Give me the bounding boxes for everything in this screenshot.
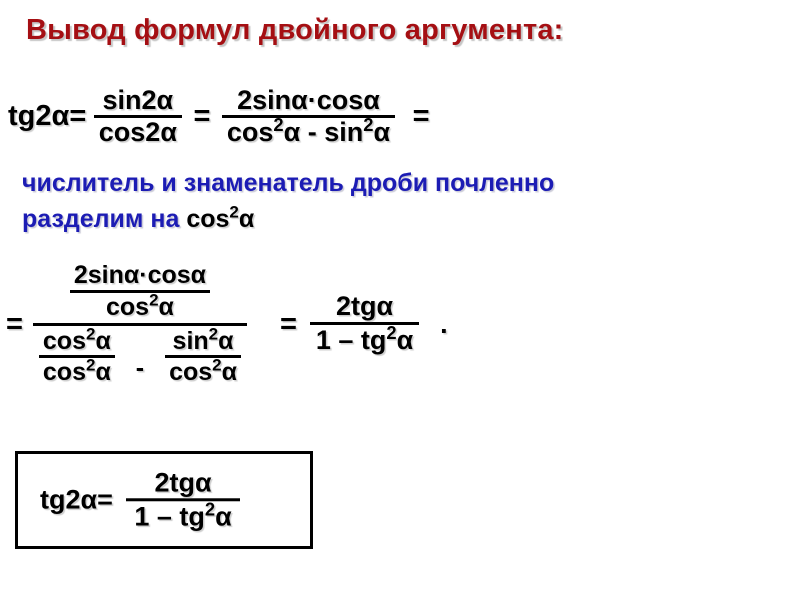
fraction-sin2a-over-cos2a: sin2α cos2α	[94, 86, 182, 147]
note-line-2: разделим на cos2α	[22, 202, 762, 238]
equals-sign-2: =	[403, 102, 434, 131]
inner-fraction-numerator-term: 2sinα·cosα cos2α	[70, 262, 210, 321]
fraction-numerator: sin2α	[94, 86, 182, 118]
equals-sign-1: =	[189, 102, 214, 131]
cos-base: cos	[43, 358, 86, 386]
note-cos-squared-alpha: cos2α	[186, 205, 254, 233]
result-fraction: 2tgα 1 – tg2α	[310, 292, 419, 355]
tg-arg: α	[397, 325, 414, 355]
sin-term-base: sin	[324, 117, 363, 147]
minus-operator: -	[122, 356, 158, 381]
cos-term-exponent: 2	[273, 114, 283, 135]
minus-operator: -	[300, 117, 324, 147]
cos-exponent: 2	[229, 202, 238, 221]
final-tg2alpha-label: tg2α=	[40, 487, 119, 514]
nested-fraction-denominator: cos2α cos2α - sin2α cos2α	[33, 326, 247, 387]
sin-arg: α	[218, 327, 233, 355]
sin-exponent: 2	[209, 324, 218, 343]
inner-numerator: 2sinα·cosα	[70, 262, 210, 293]
tg2alpha-label: tg2α=	[8, 102, 86, 131]
inner-numerator: sin2α	[165, 328, 241, 359]
page-title: Вывод формул двойного аргумента:	[26, 14, 564, 47]
cos-base: cos	[169, 358, 212, 386]
final-fraction: 2tgα 1 – tg2α	[126, 468, 239, 531]
trailing-period: .	[426, 311, 448, 338]
cos-arg: α	[95, 327, 110, 355]
fraction-denominator: cos2α	[94, 118, 182, 147]
equals-sign-mid: =	[254, 310, 303, 339]
note-line-1: числитель и знаменатель дроби почленно	[22, 166, 762, 202]
sin-term-arg: α	[373, 117, 390, 147]
result-numerator: 2tgα	[310, 292, 419, 325]
denominator-prefix: 1 – tg	[316, 325, 387, 355]
cos-term-arg: α	[284, 117, 301, 147]
tg-arg: α	[215, 501, 232, 531]
equals-sign-lead: =	[6, 310, 26, 339]
nested-fraction-numerator: 2sinα·cosα cos2α	[33, 262, 247, 326]
final-formula: tg2α= 2tgα 1 – tg2α	[40, 468, 240, 531]
cos-arg: α	[159, 293, 174, 321]
explanation-note: числитель и знаменатель дроби почленно р…	[22, 166, 762, 237]
cos-exponent: 2	[212, 356, 221, 375]
inner-denominator: cos2α	[39, 358, 115, 386]
inner-fraction-term-1: cos2α cos2α	[39, 328, 115, 387]
cos-base: cos	[106, 293, 149, 321]
cos-arg: α	[239, 205, 254, 233]
inner-denominator: cos2α	[70, 293, 210, 321]
final-denominator: 1 – tg2α	[126, 501, 239, 532]
cos-base: cos	[43, 327, 86, 355]
inner-fraction-term-2: sin2α cos2α	[165, 328, 241, 387]
equation-row-1: tg2α= sin2α cos2α = 2sinα·cosα cos2α - s…	[8, 86, 434, 147]
result-denominator: 1 – tg2α	[310, 325, 419, 356]
cos-arg: α	[222, 358, 237, 386]
inner-denominator: cos2α	[165, 358, 241, 386]
cos-exponent: 2	[149, 290, 158, 309]
final-numerator: 2tgα	[126, 468, 239, 501]
nested-fraction: 2sinα·cosα cos2α cos2α cos2α - sin2α cos…	[33, 262, 247, 386]
note-line-2-prefix: разделим на	[22, 205, 186, 233]
cos-term-base: cos	[227, 117, 274, 147]
cos-base: cos	[186, 205, 229, 233]
tg-exponent: 2	[386, 322, 396, 343]
final-formula-box: tg2α= 2tgα 1 – tg2α	[15, 451, 313, 549]
tg-exponent: 2	[205, 498, 215, 519]
sin-base: sin	[173, 327, 209, 355]
cos-arg: α	[95, 358, 110, 386]
fraction-denominator: cos2α - sin2α	[222, 118, 395, 147]
sin-term-exponent: 2	[363, 114, 373, 135]
equation-row-2: = 2sinα·cosα cos2α cos2α cos2α - sin2α c…	[6, 262, 448, 386]
inner-numerator: cos2α	[39, 328, 115, 359]
denominator-prefix: 1 – tg	[134, 501, 205, 531]
fraction-double-angle-expansion: 2sinα·cosα cos2α - sin2α	[222, 86, 395, 147]
